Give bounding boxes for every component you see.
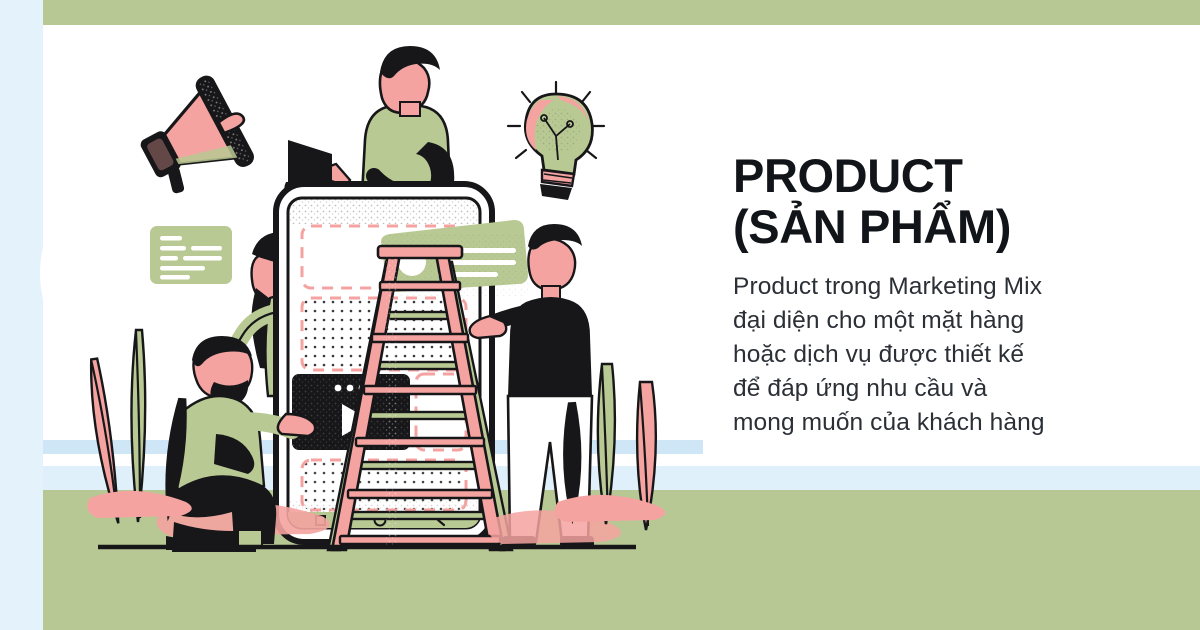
page-title: PRODUCT (SẢN PHẨM) bbox=[733, 150, 1163, 252]
chat-card bbox=[150, 226, 232, 284]
page-description: Product trong Marketing Mix đại diện cho… bbox=[733, 270, 1163, 440]
lightbulb-icon bbox=[508, 82, 604, 200]
megaphone-icon bbox=[125, 69, 264, 206]
plant-leaves-left bbox=[86, 330, 192, 525]
top-green-band bbox=[43, 0, 1200, 25]
text-block: PRODUCT (SẢN PHẨM) Product trong Marketi… bbox=[733, 150, 1163, 440]
illustration-group bbox=[70, 30, 700, 590]
banner-canvas: PRODUCT (SẢN PHẨM) Product trong Marketi… bbox=[0, 0, 1200, 630]
